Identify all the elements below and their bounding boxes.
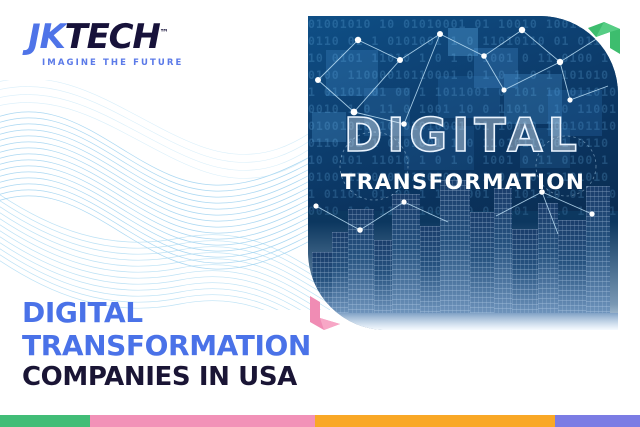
headline-line-2: TRANSFORMATION: [22, 329, 322, 362]
poster-canvas: JKTECH™ IMAGINE THE FUTURE 01001010 10 0…: [0, 0, 640, 427]
hero-network-overlay: [308, 16, 618, 330]
bottom-bar-segment-blue: [555, 415, 640, 427]
bottom-bar-segment-orange: [315, 415, 555, 427]
bottom-bar-segment-pink: [90, 415, 315, 427]
logo-tagline: IMAGINE THE FUTURE: [42, 58, 218, 68]
background-wave-pattern: [0, 80, 330, 310]
page-title: DIGITAL TRANSFORMATION COMPANIES IN USA: [22, 296, 322, 393]
green-corner-bracket-icon: [586, 20, 622, 56]
jk-tech-logo[interactable]: JKTECH™ IMAGINE THE FUTURE: [28, 20, 218, 68]
bottom-bar-segment-green: [0, 415, 90, 427]
logo-jk-text: JK: [28, 17, 65, 57]
logo-wordmark: JKTECH™: [28, 20, 218, 54]
headline-line-3: COMPANIES IN USA: [22, 362, 322, 393]
bottom-color-bar: [0, 415, 640, 427]
logo-tech-text: TECH: [65, 17, 160, 57]
hero-image-card: 01001010 10 01010001 01 10010 1001011101…: [308, 16, 618, 330]
trademark-symbol: ™: [160, 29, 169, 39]
headline-line-1: DIGITAL: [22, 296, 322, 329]
